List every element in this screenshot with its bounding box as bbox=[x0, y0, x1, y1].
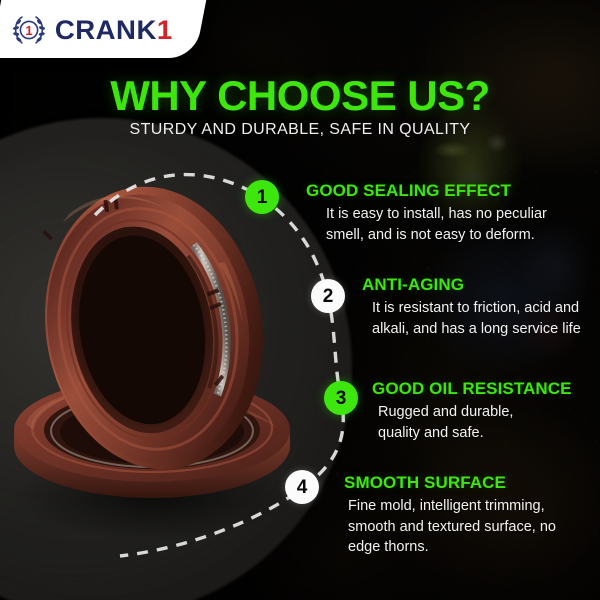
feature-badge-1[interactable]: 1 bbox=[245, 180, 279, 214]
feature-title-2: ANTI-AGING bbox=[362, 275, 581, 295]
feature-title-1: GOOD SEALING EFFECT bbox=[306, 181, 547, 201]
feature-body-line: It is easy to install, has no peculiar bbox=[326, 204, 547, 225]
laurel-wreath-icon: 1 bbox=[8, 10, 50, 50]
feature-badge-4[interactable]: 4 bbox=[285, 470, 319, 504]
feature-body-line: Rugged and durable, bbox=[378, 402, 572, 423]
feature-body-line: quality and safe. bbox=[378, 423, 572, 444]
feature-title-4: SMOOTH SURFACE bbox=[344, 473, 556, 493]
feature-body-2: It is resistant to friction, acid and al… bbox=[362, 298, 581, 339]
page-title: WHY CHOOSE US? bbox=[0, 72, 600, 120]
brand-name-crank: CRANK bbox=[55, 15, 157, 45]
feature-body-line: smooth and textured surface, no bbox=[348, 517, 556, 538]
feature-body-line: edge thorns. bbox=[348, 537, 556, 558]
feature-badge-2[interactable]: 2 bbox=[311, 279, 345, 313]
feature-body-line: smell, and is not easy to deform. bbox=[326, 225, 547, 246]
feature-item-3: GOOD OIL RESISTANCE Rugged and durable, … bbox=[372, 379, 572, 443]
feature-item-1: GOOD SEALING EFFECT It is easy to instal… bbox=[306, 181, 547, 245]
feature-item-4: SMOOTH SURFACE Fine mold, intelligent tr… bbox=[344, 473, 556, 558]
feature-body-3: Rugged and durable, quality and safe. bbox=[372, 402, 572, 443]
feature-badge-3[interactable]: 3 bbox=[324, 381, 358, 415]
page-subtitle: STURDY AND DURABLE, SAFE IN QUALITY bbox=[0, 121, 600, 139]
feature-item-2: ANTI-AGING It is resistant to friction, … bbox=[362, 275, 581, 339]
brand-name-one: 1 bbox=[157, 15, 173, 45]
feature-body-1: It is easy to install, has no peculiar s… bbox=[306, 204, 547, 245]
brand-logo[interactable]: 1 CRANK1 bbox=[8, 8, 188, 52]
feature-body-line: It is resistant to friction, acid and bbox=[372, 298, 581, 319]
feature-body-line: alkali, and has a long service life bbox=[372, 319, 581, 340]
feature-body-line: Fine mold, intelligent trimming, bbox=[348, 496, 556, 517]
feature-body-4: Fine mold, intelligent trimming, smooth … bbox=[344, 496, 556, 558]
feature-title-3: GOOD OIL RESISTANCE bbox=[372, 379, 572, 399]
emblem-number: 1 bbox=[25, 23, 32, 38]
promo-banner: 1 2 3 4 1 bbox=[0, 0, 600, 600]
brand-wordmark: CRANK1 bbox=[55, 17, 173, 44]
